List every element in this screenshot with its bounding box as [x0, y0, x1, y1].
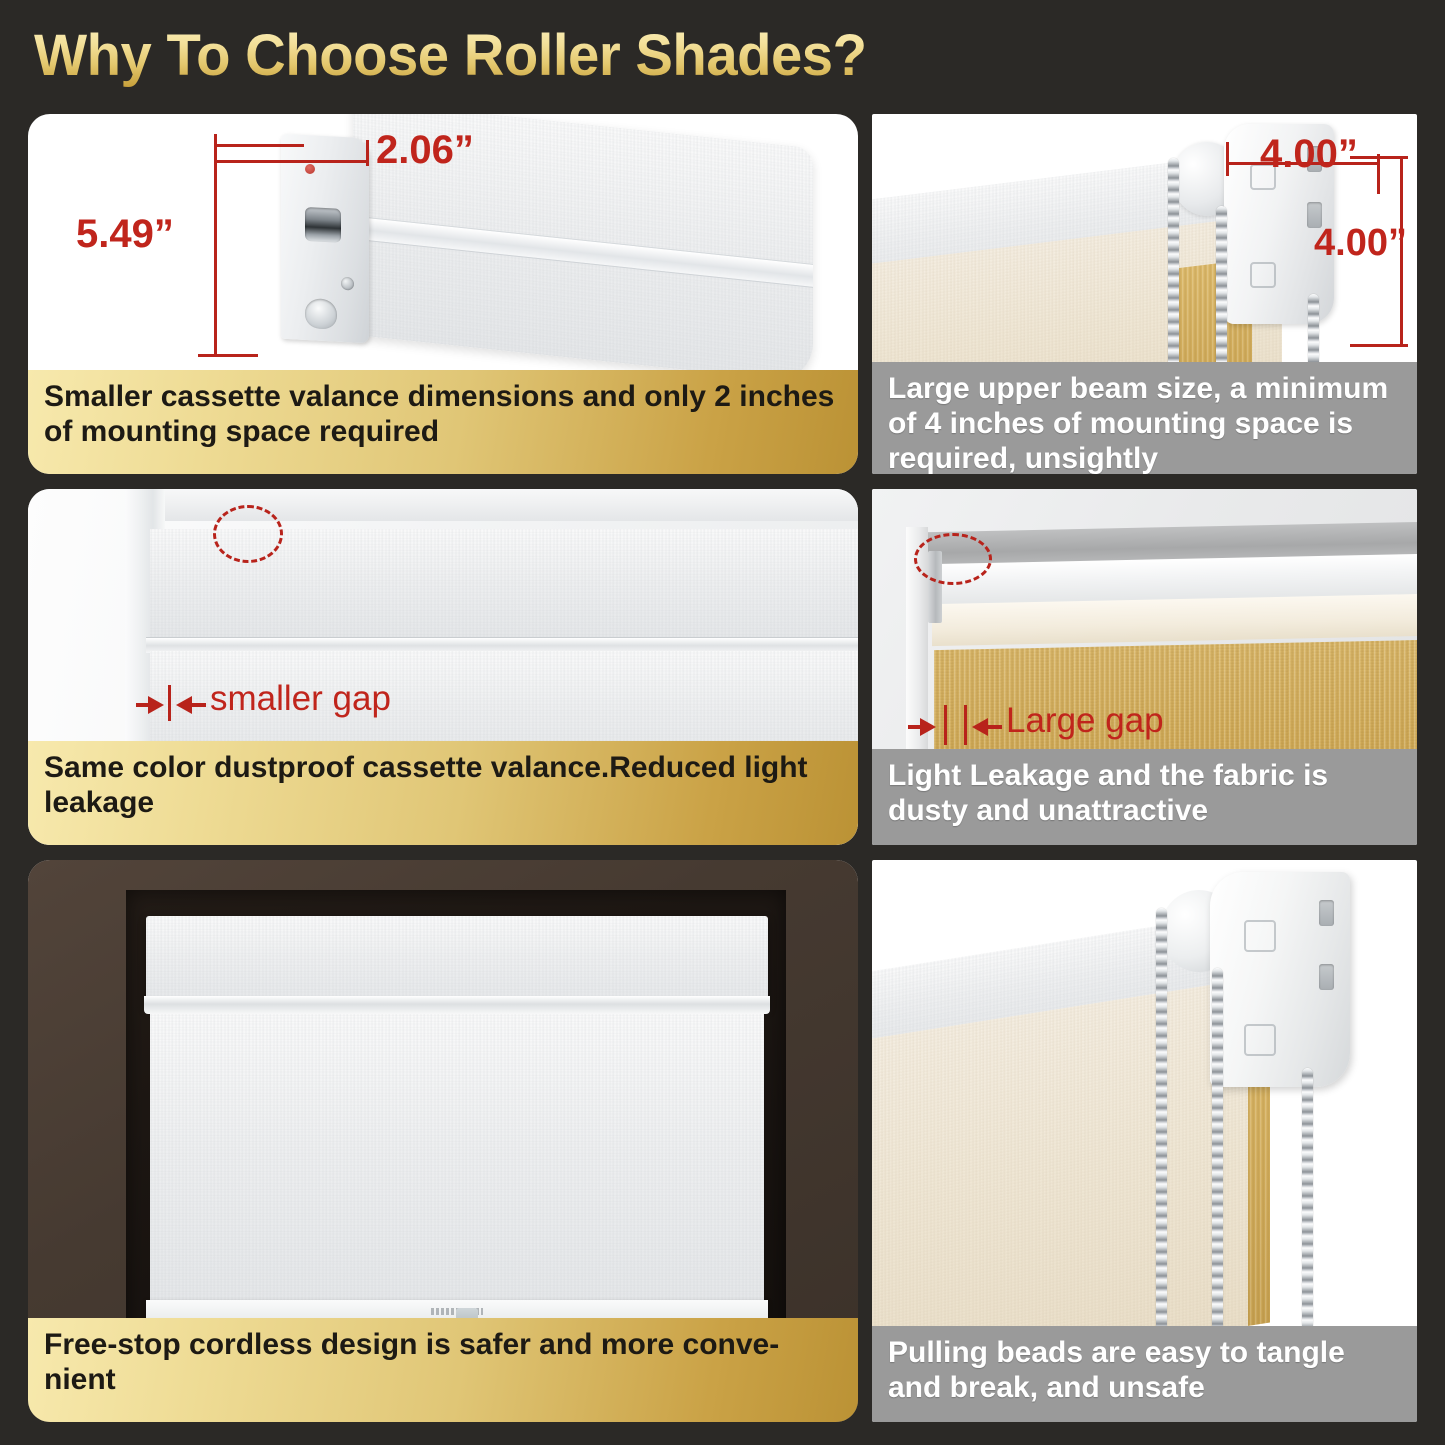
bracket-lower-fitting — [305, 298, 337, 330]
gap-arrow-stem-right — [192, 703, 206, 707]
shade-valance-lip — [144, 996, 770, 1014]
large-bracket-emboss-bottom — [1244, 1024, 1276, 1056]
competitor-height-label: 4.00” — [1314, 222, 1407, 265]
shade-fabric — [150, 1014, 764, 1304]
highlight-circle-small-gap — [213, 505, 283, 563]
panel-competitor-upper-beam: 4.00” 4.00” Large upper beam size, a min… — [872, 114, 1417, 474]
gap-arrow-right — [148, 696, 164, 714]
dim-bottom-tick — [198, 354, 258, 357]
caption-competitor-beam: Large upper beam size, a minimum of 4 in… — [872, 362, 1417, 474]
bracket-emboss-bottom — [1250, 262, 1276, 288]
panel-cordless-free-stop: Free-stop cordless design is safer and m… — [28, 860, 858, 1422]
pull-bead-chain-left — [1156, 908, 1167, 1358]
infographic-root: Why To Choose Roller Shades? 2.06” — [0, 0, 1445, 1445]
label-large-gap: Large gap — [1006, 701, 1164, 741]
large-gap-arrow-left — [972, 718, 988, 736]
highlight-circle-large-gap — [914, 533, 992, 585]
large-bracket-notch-bottom — [1319, 964, 1334, 990]
caption-competitor-light-leakage: Light Leakage and the fabric is dusty an… — [872, 749, 1417, 845]
gap-arrow-left — [176, 696, 192, 714]
dim-h-tick-right — [1377, 154, 1380, 194]
large-bracket-emboss-top — [1244, 920, 1276, 952]
large-gap-line-b — [964, 705, 967, 745]
comparison-grid: 2.06” 5.49” Smaller cassette valance dim… — [0, 0, 1445, 1445]
panel-dustproof-cassette: smaller gap Same color dustproof cassett… — [28, 489, 858, 845]
panel-competitor-pull-beads: Pulling beads are easy to tangle and bre… — [872, 860, 1417, 1422]
bracket-screw — [341, 277, 354, 291]
shade-valance — [146, 916, 768, 1008]
competitor-width-label: 4.00” — [1260, 132, 1358, 177]
dim-top-tick-right — [366, 140, 369, 166]
dim-h-tick-left — [1226, 142, 1229, 176]
large-bracket-notch-top — [1319, 900, 1334, 926]
pull-bead-chain-mid — [1212, 968, 1223, 1360]
large-gap-line-a — [944, 705, 947, 745]
dimension-width-label: 2.06” — [376, 128, 474, 173]
caption-cassette-valance: Smaller cassette valance dimensions and … — [28, 370, 858, 474]
dim-height-line — [214, 144, 217, 356]
bracket-slot — [305, 207, 341, 243]
caption-competitor-pull-beads: Pulling beads are easy to tangle and bre… — [872, 1326, 1417, 1422]
dim-v-tick-bottom — [1350, 344, 1408, 347]
dim-width-line-a — [214, 144, 304, 147]
valance-end-bracket — [281, 134, 369, 344]
caption-cordless-free-stop: Free-stop cordless design is safer and m… — [28, 1318, 858, 1422]
caption-dustproof-cassette: Same color dustproof cassette valance.Re… — [28, 741, 858, 845]
pull-bead-chain-right — [1302, 1068, 1313, 1360]
large-gap-arrow-right — [920, 718, 936, 736]
dimension-height-label: 5.49” — [76, 212, 174, 257]
red-screw-marker — [305, 164, 315, 174]
panel-competitor-light-leakage: Large gap Light Leakage and the fabric i… — [872, 489, 1417, 845]
dim-width-line — [214, 160, 369, 163]
gap-measure-line — [168, 685, 171, 721]
panel-cassette-valance-dimensions: 2.06” 5.49” Smaller cassette valance dim… — [28, 114, 858, 474]
large-gap-stem-right — [988, 725, 1002, 729]
competitor-large-bracket — [1210, 872, 1350, 1087]
label-smaller-gap: smaller gap — [210, 679, 391, 719]
